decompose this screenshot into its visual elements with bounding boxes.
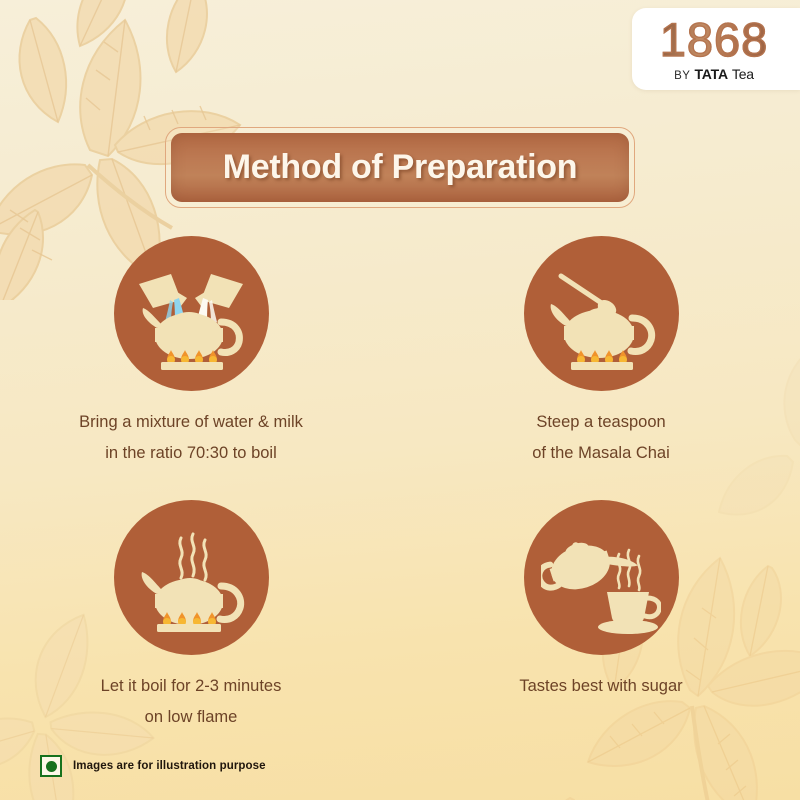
disclaimer-text: Images are for illustration purpose <box>73 760 266 772</box>
step-caption-line1: Steep a teaspoon <box>532 407 670 438</box>
step-caption-line1: Tastes best with sugar <box>519 671 682 702</box>
steps-grid: Bring a mixture of water & milk in the r… <box>0 236 800 732</box>
step-icon-circle <box>524 236 679 391</box>
step-caption-line2: on low flame <box>101 702 282 733</box>
step-item: Steep a teaspoon of the Masala Chai <box>402 236 800 468</box>
step-caption: Steep a teaspoon of the Masala Chai <box>532 407 670 468</box>
brand-logo: 1868 BY TATA Tea <box>632 8 800 90</box>
step-caption-line1: Let it boil for 2-3 minutes <box>101 671 282 702</box>
step-caption: Tastes best with sugar <box>519 671 682 702</box>
logo-by-text: BY <box>674 70 690 82</box>
step-item: Tastes best with sugar <box>402 500 800 732</box>
step-caption-line2: in the ratio 70:30 to boil <box>79 438 303 469</box>
steam-icon <box>618 550 640 590</box>
step-icon-circle <box>524 500 679 655</box>
footer-disclaimer: Images are for illustration purpose <box>40 755 266 777</box>
step-caption: Let it boil for 2-3 minutes on low flame <box>101 671 282 732</box>
step-caption-line2: of the Masala Chai <box>532 438 670 469</box>
title-banner-inner: Method of Preparation <box>171 133 629 202</box>
teapot-pouring-into-cup-icon <box>541 518 661 638</box>
title-banner: Method of Preparation <box>165 127 635 208</box>
veg-symbol-icon <box>40 755 62 777</box>
logo-subtitle: BY TATA Tea <box>674 66 754 82</box>
teapot-pouring-water-and-milk-on-stove-icon <box>131 254 251 374</box>
logo-tea-text: Tea <box>732 66 754 82</box>
page-title: Method of Preparation <box>223 148 578 187</box>
veg-symbol-dot <box>46 761 57 772</box>
step-caption-line1: Bring a mixture of water & milk <box>79 407 303 438</box>
step-item: Bring a mixture of water & milk in the r… <box>0 236 400 468</box>
teapot-with-teaspoon-on-stove-icon <box>541 254 661 374</box>
step-caption: Bring a mixture of water & milk in the r… <box>79 407 303 468</box>
logo-tata-text: TATA <box>694 66 727 82</box>
step-icon-circle <box>114 236 269 391</box>
teapot-steaming-on-stove-icon <box>131 518 251 638</box>
steam-icon <box>180 534 206 580</box>
step-item: Let it boil for 2-3 minutes on low flame <box>0 500 400 732</box>
poster-canvas: 1868 BY TATA Tea Method of Preparation <box>0 0 800 800</box>
logo-year-text: 1868 <box>660 16 769 63</box>
step-icon-circle <box>114 500 269 655</box>
